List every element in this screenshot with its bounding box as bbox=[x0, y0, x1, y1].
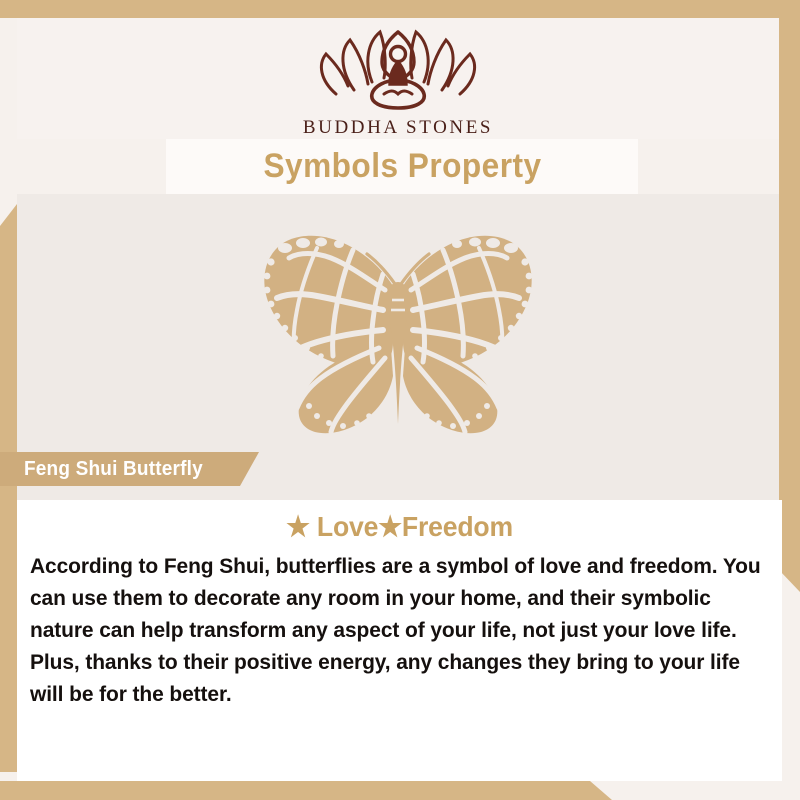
frame-band-top bbox=[0, 0, 800, 18]
lotus-meditation-icon bbox=[17, 24, 779, 116]
frame-band-bottom bbox=[0, 781, 612, 800]
poster-header: BUDDHA STONES bbox=[17, 18, 779, 139]
description-text: According to Feng Shui, butterflies are … bbox=[30, 550, 769, 710]
keywords-line: ★ Love★Freedom bbox=[36, 510, 763, 543]
frame-band-left bbox=[0, 204, 17, 772]
frame-band-right bbox=[779, 0, 800, 592]
symbol-tag-label: Feng Shui Butterfly bbox=[24, 458, 203, 481]
butterfly-illustration bbox=[17, 224, 779, 440]
butterfly-icon bbox=[17, 224, 779, 440]
page-title: Symbols Property bbox=[263, 147, 541, 186]
brand-wordmark: BUDDHA STONES bbox=[17, 117, 779, 139]
brand-logo: BUDDHA STONES bbox=[17, 24, 779, 139]
title-band: Symbols Property bbox=[166, 139, 638, 194]
description-panel: ★ Love★Freedom According to Feng Shui, b… bbox=[17, 500, 782, 781]
symbols-property-poster: BUDDHA STONES Symbols Property bbox=[0, 0, 800, 800]
symbol-tag-banner: Feng Shui Butterfly bbox=[0, 452, 259, 486]
